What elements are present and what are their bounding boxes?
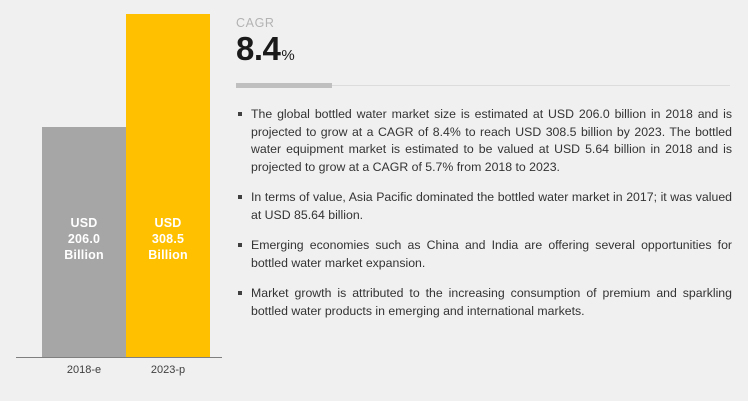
highlights-list: The global bottled water market size is … xyxy=(236,106,732,333)
market-size-infographic: USD 206.0 Billion USD 308.5 Billion 2018… xyxy=(0,0,748,401)
bar-2018-e-value-label: USD 206.0 Billion xyxy=(42,215,126,263)
x-axis-tick-2023-p: 2023-p xyxy=(126,364,210,376)
bar-chart-panel: USD 206.0 Billion USD 308.5 Billion 2018… xyxy=(0,0,224,401)
bar-2018-e-label-scale: Billion xyxy=(42,247,126,263)
x-axis-line xyxy=(16,357,222,358)
square-bullet-icon xyxy=(238,243,242,247)
cagr-value-group: 8.4 % xyxy=(236,31,295,74)
x-axis-tick-2018-e: 2018-e xyxy=(42,364,126,376)
list-item-text: The global bottled water market size is … xyxy=(251,107,732,174)
square-bullet-icon xyxy=(238,112,242,116)
bar-2023-p-label-amount: 308.5 xyxy=(126,231,210,247)
list-item-text: In terms of value, Asia Pacific dominate… xyxy=(251,190,732,222)
section-divider-accent xyxy=(236,83,332,88)
bar-2023-p-value-label: USD 308.5 Billion xyxy=(126,215,210,263)
square-bullet-icon xyxy=(238,291,242,295)
bar-2023-p[interactable]: USD 308.5 Billion xyxy=(126,14,210,357)
list-item-text: Emerging economies such as China and Ind… xyxy=(251,238,732,270)
cagr-label: CAGR xyxy=(236,16,275,30)
cagr-percent-symbol: % xyxy=(281,38,294,74)
bar-2023-p-label-currency: USD xyxy=(126,215,210,231)
cagr-value: 8.4 xyxy=(236,31,280,67)
bar-2023-p-label-scale: Billion xyxy=(126,247,210,263)
bar-2018-e-label-currency: USD xyxy=(42,215,126,231)
chart-plot-area: USD 206.0 Billion USD 308.5 Billion xyxy=(16,10,222,357)
list-item: Market growth is attributed to the incre… xyxy=(236,285,732,320)
list-item: The global bottled water market size is … xyxy=(236,106,732,176)
list-item: In terms of value, Asia Pacific dominate… xyxy=(236,189,732,224)
list-item-text: Market growth is attributed to the incre… xyxy=(251,286,732,318)
bar-2018-e[interactable]: USD 206.0 Billion xyxy=(42,127,126,357)
square-bullet-icon xyxy=(238,195,242,199)
details-panel: CAGR 8.4 % The global bottled water mark… xyxy=(236,0,736,401)
bar-2018-e-label-amount: 206.0 xyxy=(42,231,126,247)
list-item: Emerging economies such as China and Ind… xyxy=(236,237,732,272)
